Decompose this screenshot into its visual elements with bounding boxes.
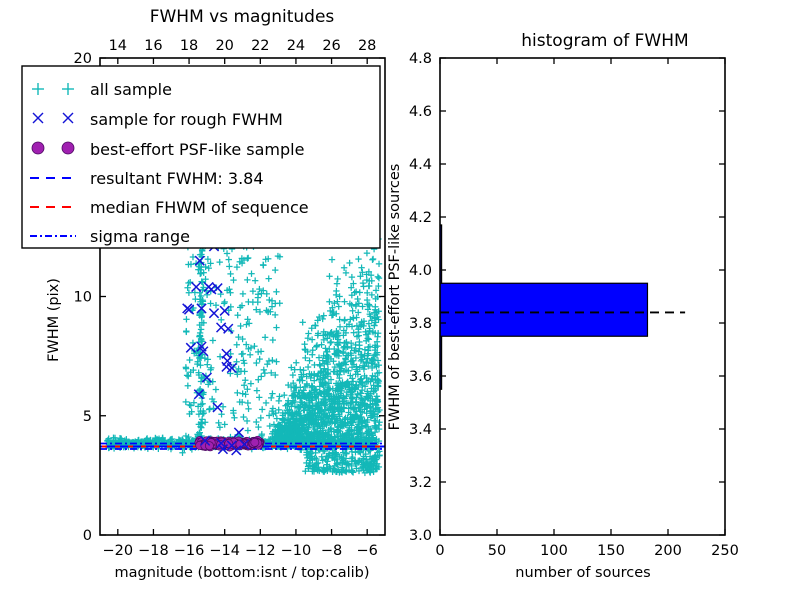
tick-label: 4.8 [409, 51, 432, 67]
tick-label: 4.0 [409, 263, 432, 279]
tick-label: 24 [287, 38, 305, 54]
tick-label: 150 [597, 543, 625, 559]
tick-label: 4.4 [409, 157, 432, 173]
figure-canvas: FWHM vs magnitudes −20−18−16−14−12−10−8−… [0, 0, 800, 600]
scatter-xlabel: magnitude (bottom:isnt / top:calib) [114, 565, 369, 581]
tick-label: 18 [180, 38, 198, 54]
tick-label: 3.0 [409, 528, 432, 544]
tick-label: −14 [209, 543, 240, 559]
tick-label: 4.6 [409, 104, 432, 120]
scatter-title: FWHM vs magnitudes [150, 7, 335, 27]
legend-label: best-effort PSF-like sample [90, 140, 304, 159]
scatter-ylabel: FWHM (pix) [46, 278, 62, 362]
tick-label: 3.6 [409, 369, 432, 385]
tick-label: −20 [103, 543, 134, 559]
legend[interactable]: all sample sample for rough FWHM best-ef… [22, 66, 380, 248]
tick-label: −18 [138, 543, 169, 559]
tick-label: 0 [83, 528, 92, 544]
legend-label: all sample [90, 80, 172, 99]
tick-label: 100 [540, 543, 568, 559]
tick-label: −10 [281, 543, 312, 559]
legend-label: median FHWM of sequence [90, 198, 309, 217]
tick-label: 20 [215, 38, 233, 54]
tick-label: 10 [74, 290, 92, 306]
tick-label: 4.2 [409, 210, 432, 226]
tick-label: −16 [174, 543, 205, 559]
tick-label: 22 [251, 38, 269, 54]
tick-label: 200 [654, 543, 682, 559]
tick-label: 5 [83, 409, 92, 425]
tick-label: 14 [109, 38, 127, 54]
histogram-ylabel: FWHM of best-effort PSF-like sources [387, 164, 403, 431]
tick-label: −8 [321, 543, 342, 559]
tick-label: 28 [358, 38, 376, 54]
histogram-xlabel: number of sources [515, 565, 651, 581]
matplotlib-figure: FWHM vs magnitudes −20−18−16−14−12−10−8−… [0, 0, 800, 600]
tick-label: 26 [322, 38, 340, 54]
tick-label: 16 [144, 38, 162, 54]
tick-label: 0 [435, 543, 444, 559]
tick-label: −12 [245, 543, 276, 559]
legend-label: resultant FWHM: 3.84 [90, 169, 264, 188]
legend-label: sigma range [90, 227, 190, 246]
tick-label: 250 [711, 543, 739, 559]
tick-label: 3.2 [409, 475, 432, 491]
tick-label: 50 [488, 543, 506, 559]
tick-label: −6 [357, 543, 378, 559]
tick-label: 20 [74, 51, 92, 67]
legend-label: sample for rough FWHM [90, 110, 283, 129]
tick-label: 3.4 [409, 422, 432, 438]
histogram-title: histogram of FWHM [521, 31, 688, 51]
histogram-bar [440, 283, 647, 336]
tick-label: 3.8 [409, 316, 432, 332]
